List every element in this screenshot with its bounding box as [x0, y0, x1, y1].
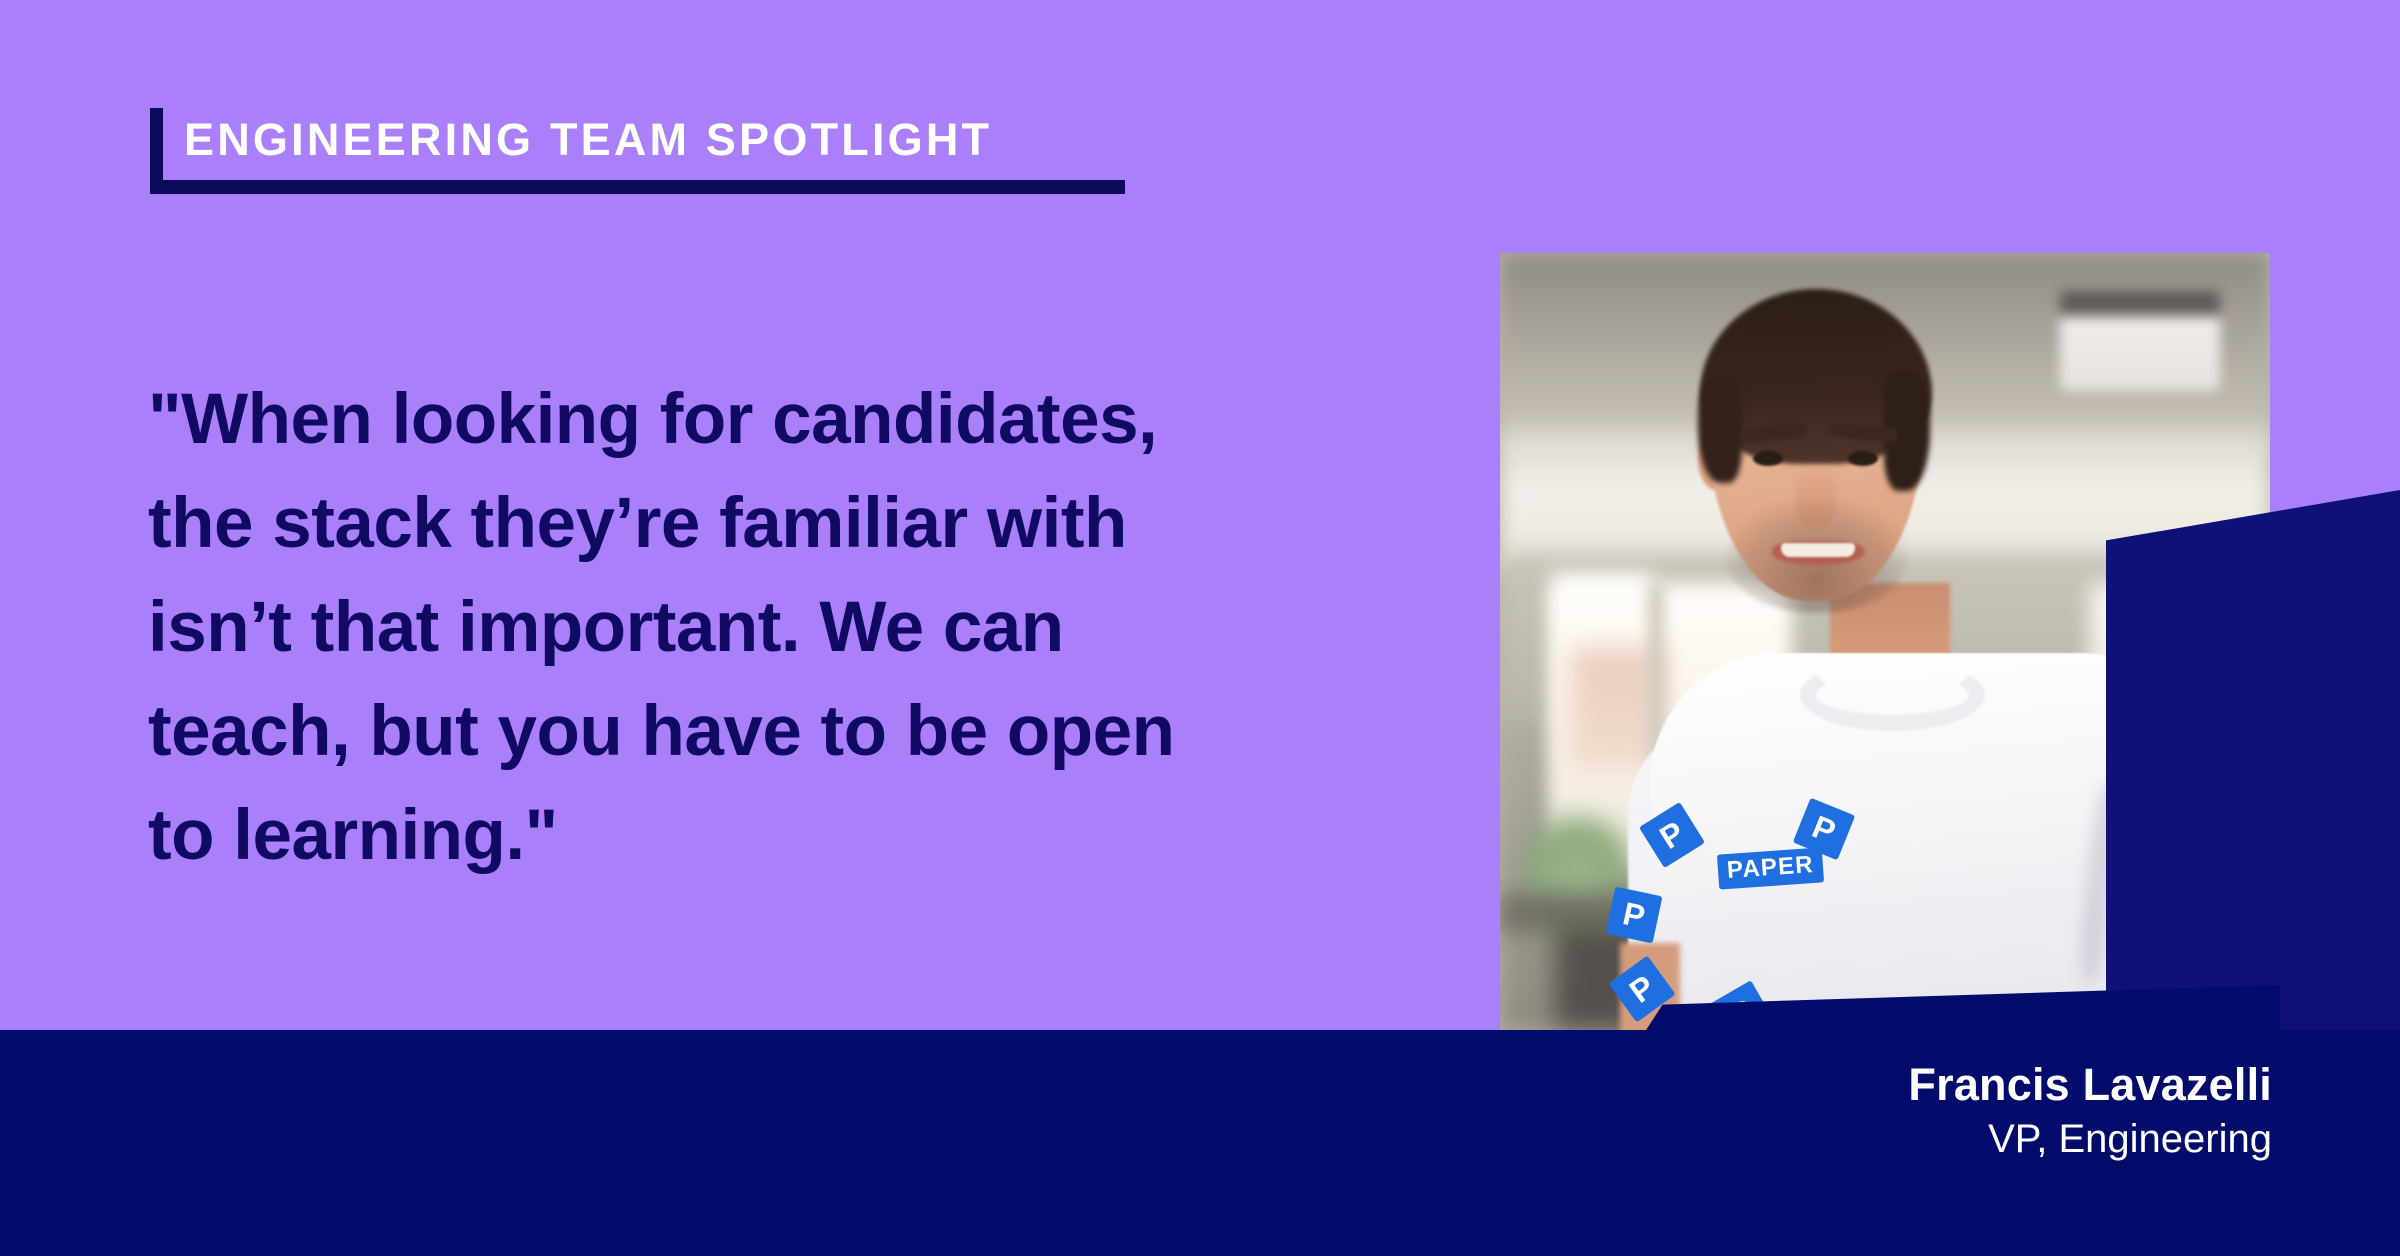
person-hair-side-left	[1698, 373, 1742, 483]
person-eye-right	[1848, 451, 1878, 466]
quote-line: to learning."	[148, 784, 1328, 888]
attribution-role: VP, Engineering	[1908, 1114, 2272, 1164]
paper-p-sticker-icon: P	[1606, 887, 1663, 944]
person-nose	[1795, 463, 1837, 529]
page-title: ENGINEERING TEAM SPOTLIGHT	[184, 111, 992, 169]
tshirt-collar	[1800, 659, 1985, 731]
quote-line: isn’t that important. We can	[148, 576, 1328, 680]
pull-quote: "When looking for candidates, the stack …	[148, 368, 1328, 888]
paper-wordmark-logo: PAPER	[1717, 847, 1824, 889]
spotlight-card: P P P P P PAPER ENGINEERING TEAM SPOTLIG…	[0, 0, 2400, 1256]
person-eye-left	[1753, 451, 1783, 466]
ceiling-light-fixture	[2060, 291, 2220, 391]
person-teeth	[1781, 543, 1855, 557]
attribution: Francis Lavazelli VP, Engineering	[1908, 1058, 2272, 1164]
quote-line: teach, but you have to be open	[148, 680, 1328, 784]
bracket-underline-rule	[150, 180, 1125, 194]
quote-line: "When looking for candidates,	[148, 368, 1328, 472]
header-eyebrow-block: ENGINEERING TEAM SPOTLIGHT	[150, 108, 1150, 198]
bracket-vertical-rule	[150, 108, 163, 186]
quote-line: the stack they’re familiar with	[148, 472, 1328, 576]
attribution-name: Francis Lavazelli	[1908, 1058, 2272, 1112]
